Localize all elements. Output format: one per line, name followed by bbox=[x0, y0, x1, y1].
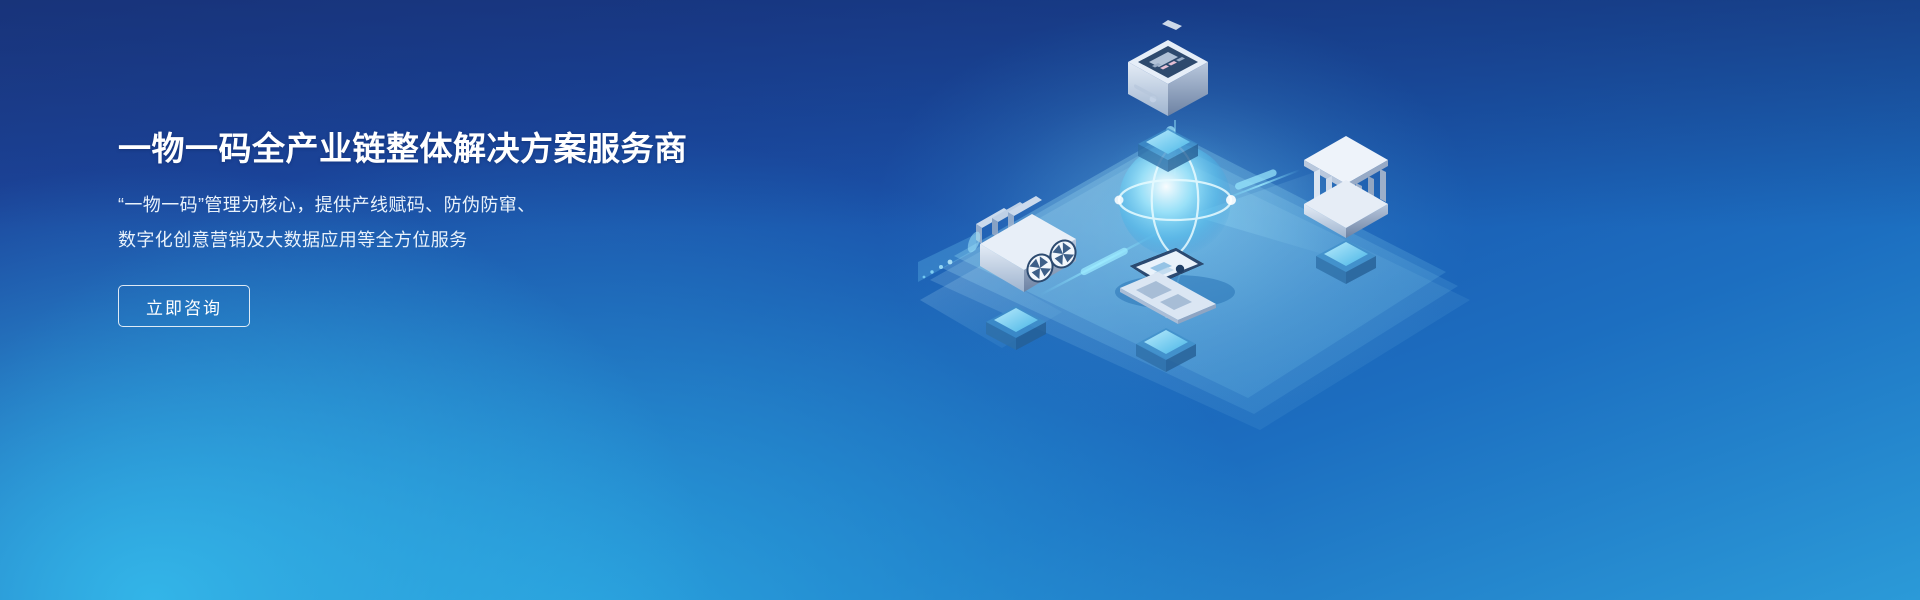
hero-subtitle-line-1: “一物一码”管理为核心，提供产线赋码、防伪防窜、 bbox=[118, 188, 878, 223]
hero-subtitle-line-2: 数字化创意营销及大数据应用等全方位服务 bbox=[118, 223, 878, 258]
hero-content: 一物一码全产业链整体解决方案服务商 “一物一码”管理为核心，提供产线赋码、防伪防… bbox=[118, 128, 878, 327]
hero-subtitle: “一物一码”管理为核心，提供产线赋码、防伪防窜、 数字化创意营销及大数据应用等全… bbox=[118, 188, 878, 258]
bank-building bbox=[1304, 136, 1388, 284]
page-title: 一物一码全产业链整体解决方案服务商 bbox=[118, 128, 878, 169]
consult-now-button[interactable]: 立即咨询 bbox=[118, 285, 250, 327]
isometric-scene-svg bbox=[830, 0, 1920, 600]
hero-illustration bbox=[830, 0, 1920, 600]
hero-banner: 一物一码全产业链整体解决方案服务商 “一物一码”管理为核心，提供产线赋码、防伪防… bbox=[0, 0, 1920, 600]
